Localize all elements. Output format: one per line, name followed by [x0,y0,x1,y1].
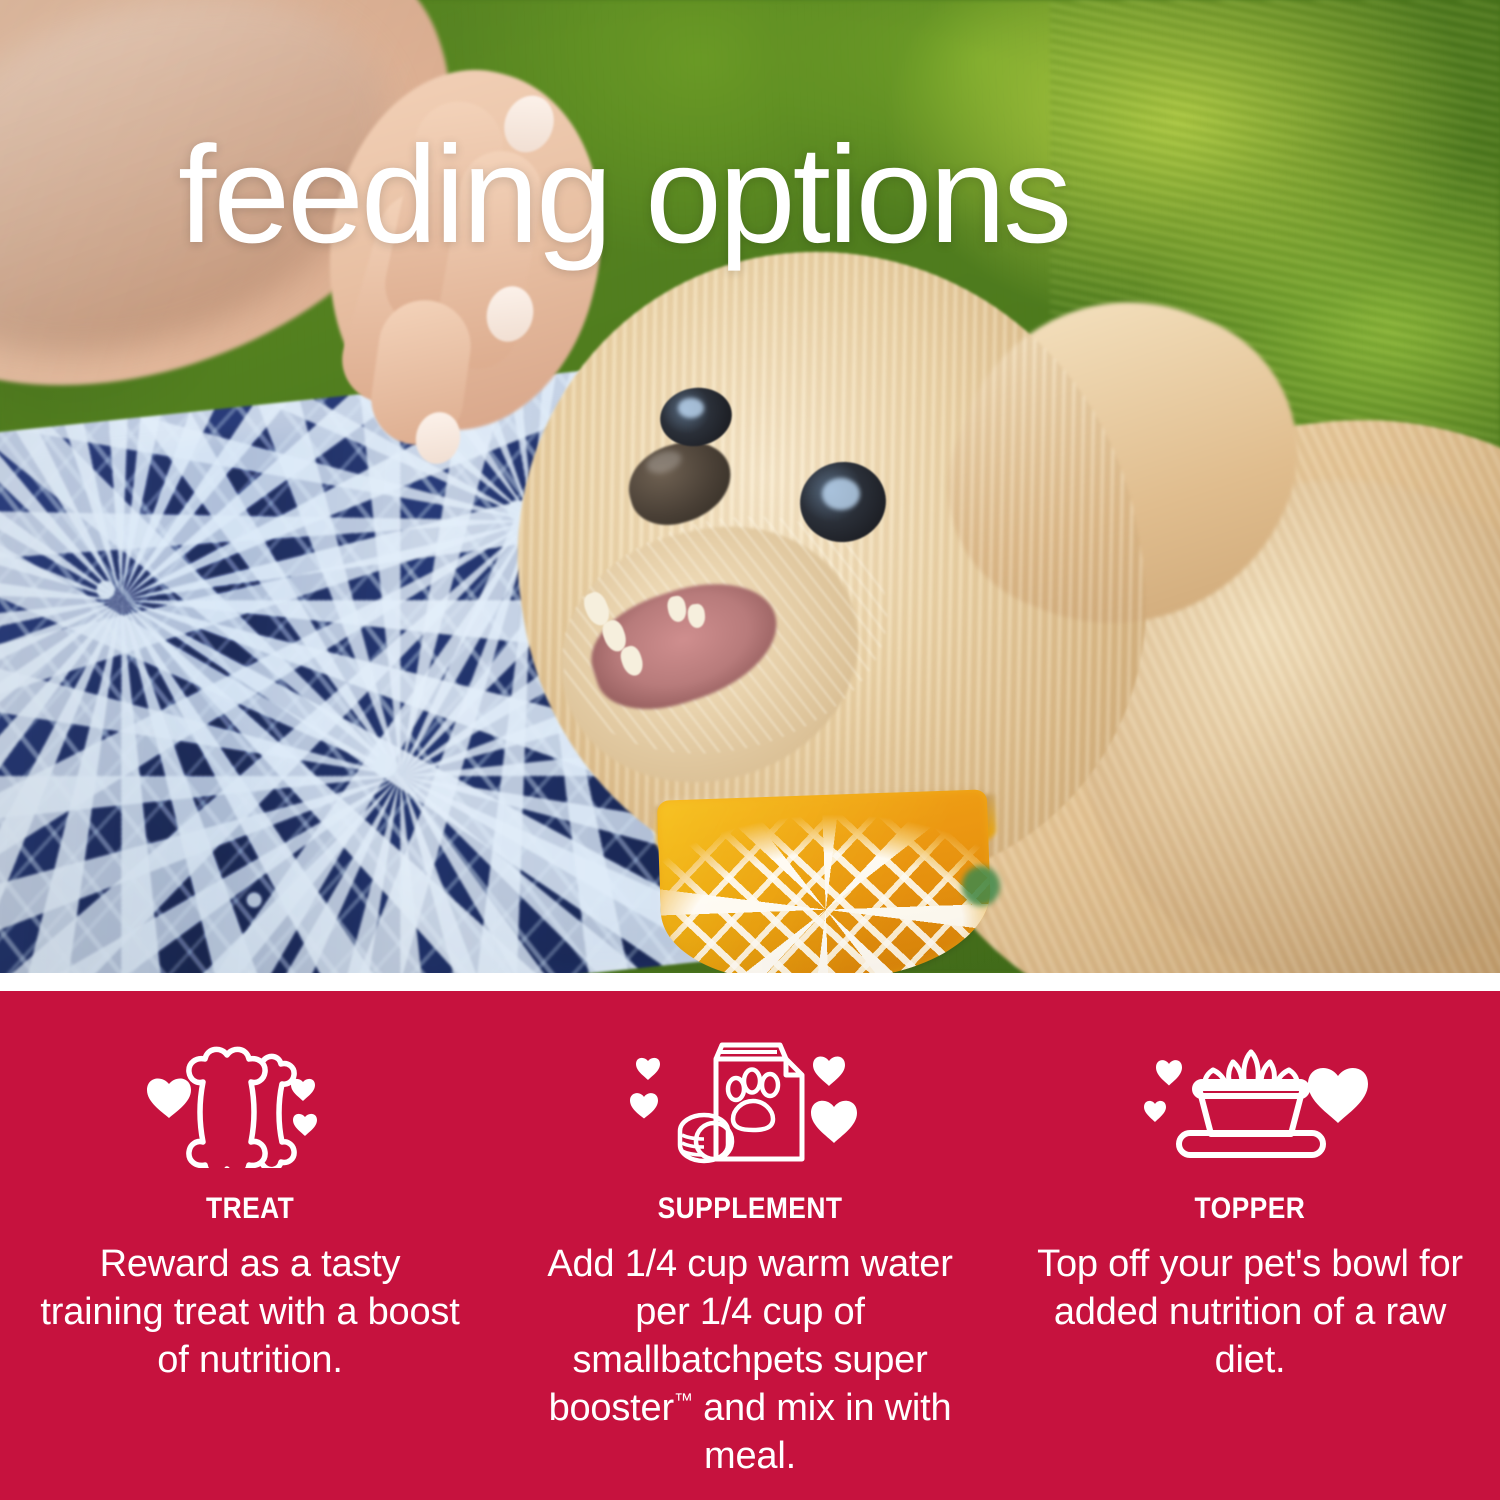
option-column-supplement: SUPPLEMENT Add 1/4 cup warm water per 1/… [500,1035,1000,1500]
option-body-supplement: Add 1/4 cup warm water per 1/4 cup of sm… [535,1240,965,1480]
supplement-line-1: Add 1/4 cup warm water [547,1243,952,1285]
option-title-treat: TREAT [206,1192,294,1226]
feeding-options-infographic: feeding options [0,0,1500,1500]
option-column-treat: TREAT Reward as a tasty training treat w… [0,1035,500,1500]
hero-photo: feeding options [0,0,1500,973]
option-title-supplement: SUPPLEMENT [658,1192,843,1226]
option-column-topper: TOPPER Top off your pet's bowl for added… [1000,1035,1500,1500]
food-bowl-topper-icon [1133,1035,1368,1170]
feeding-options-panel: TREAT Reward as a tasty training treat w… [0,991,1500,1500]
trademark-symbol: ™ [674,1390,693,1411]
option-body-treat: Reward as a tasty training treat with a … [35,1240,465,1384]
option-body-topper: Top off your pet's bowl for added nutrit… [1035,1240,1465,1384]
divider-band [0,973,1500,991]
dog-bone-treat-icon [135,1035,365,1170]
supplement-bag-paw-icon [620,1035,880,1170]
page-title: feeding options [178,126,1358,264]
supplement-line-2: per 1/4 cup of smallbatchpets [572,1291,864,1381]
option-title-topper: TOPPER [1195,1192,1306,1226]
options-columns: TREAT Reward as a tasty training treat w… [0,991,1500,1500]
supplement-line-3-post: and mix [693,1387,835,1429]
